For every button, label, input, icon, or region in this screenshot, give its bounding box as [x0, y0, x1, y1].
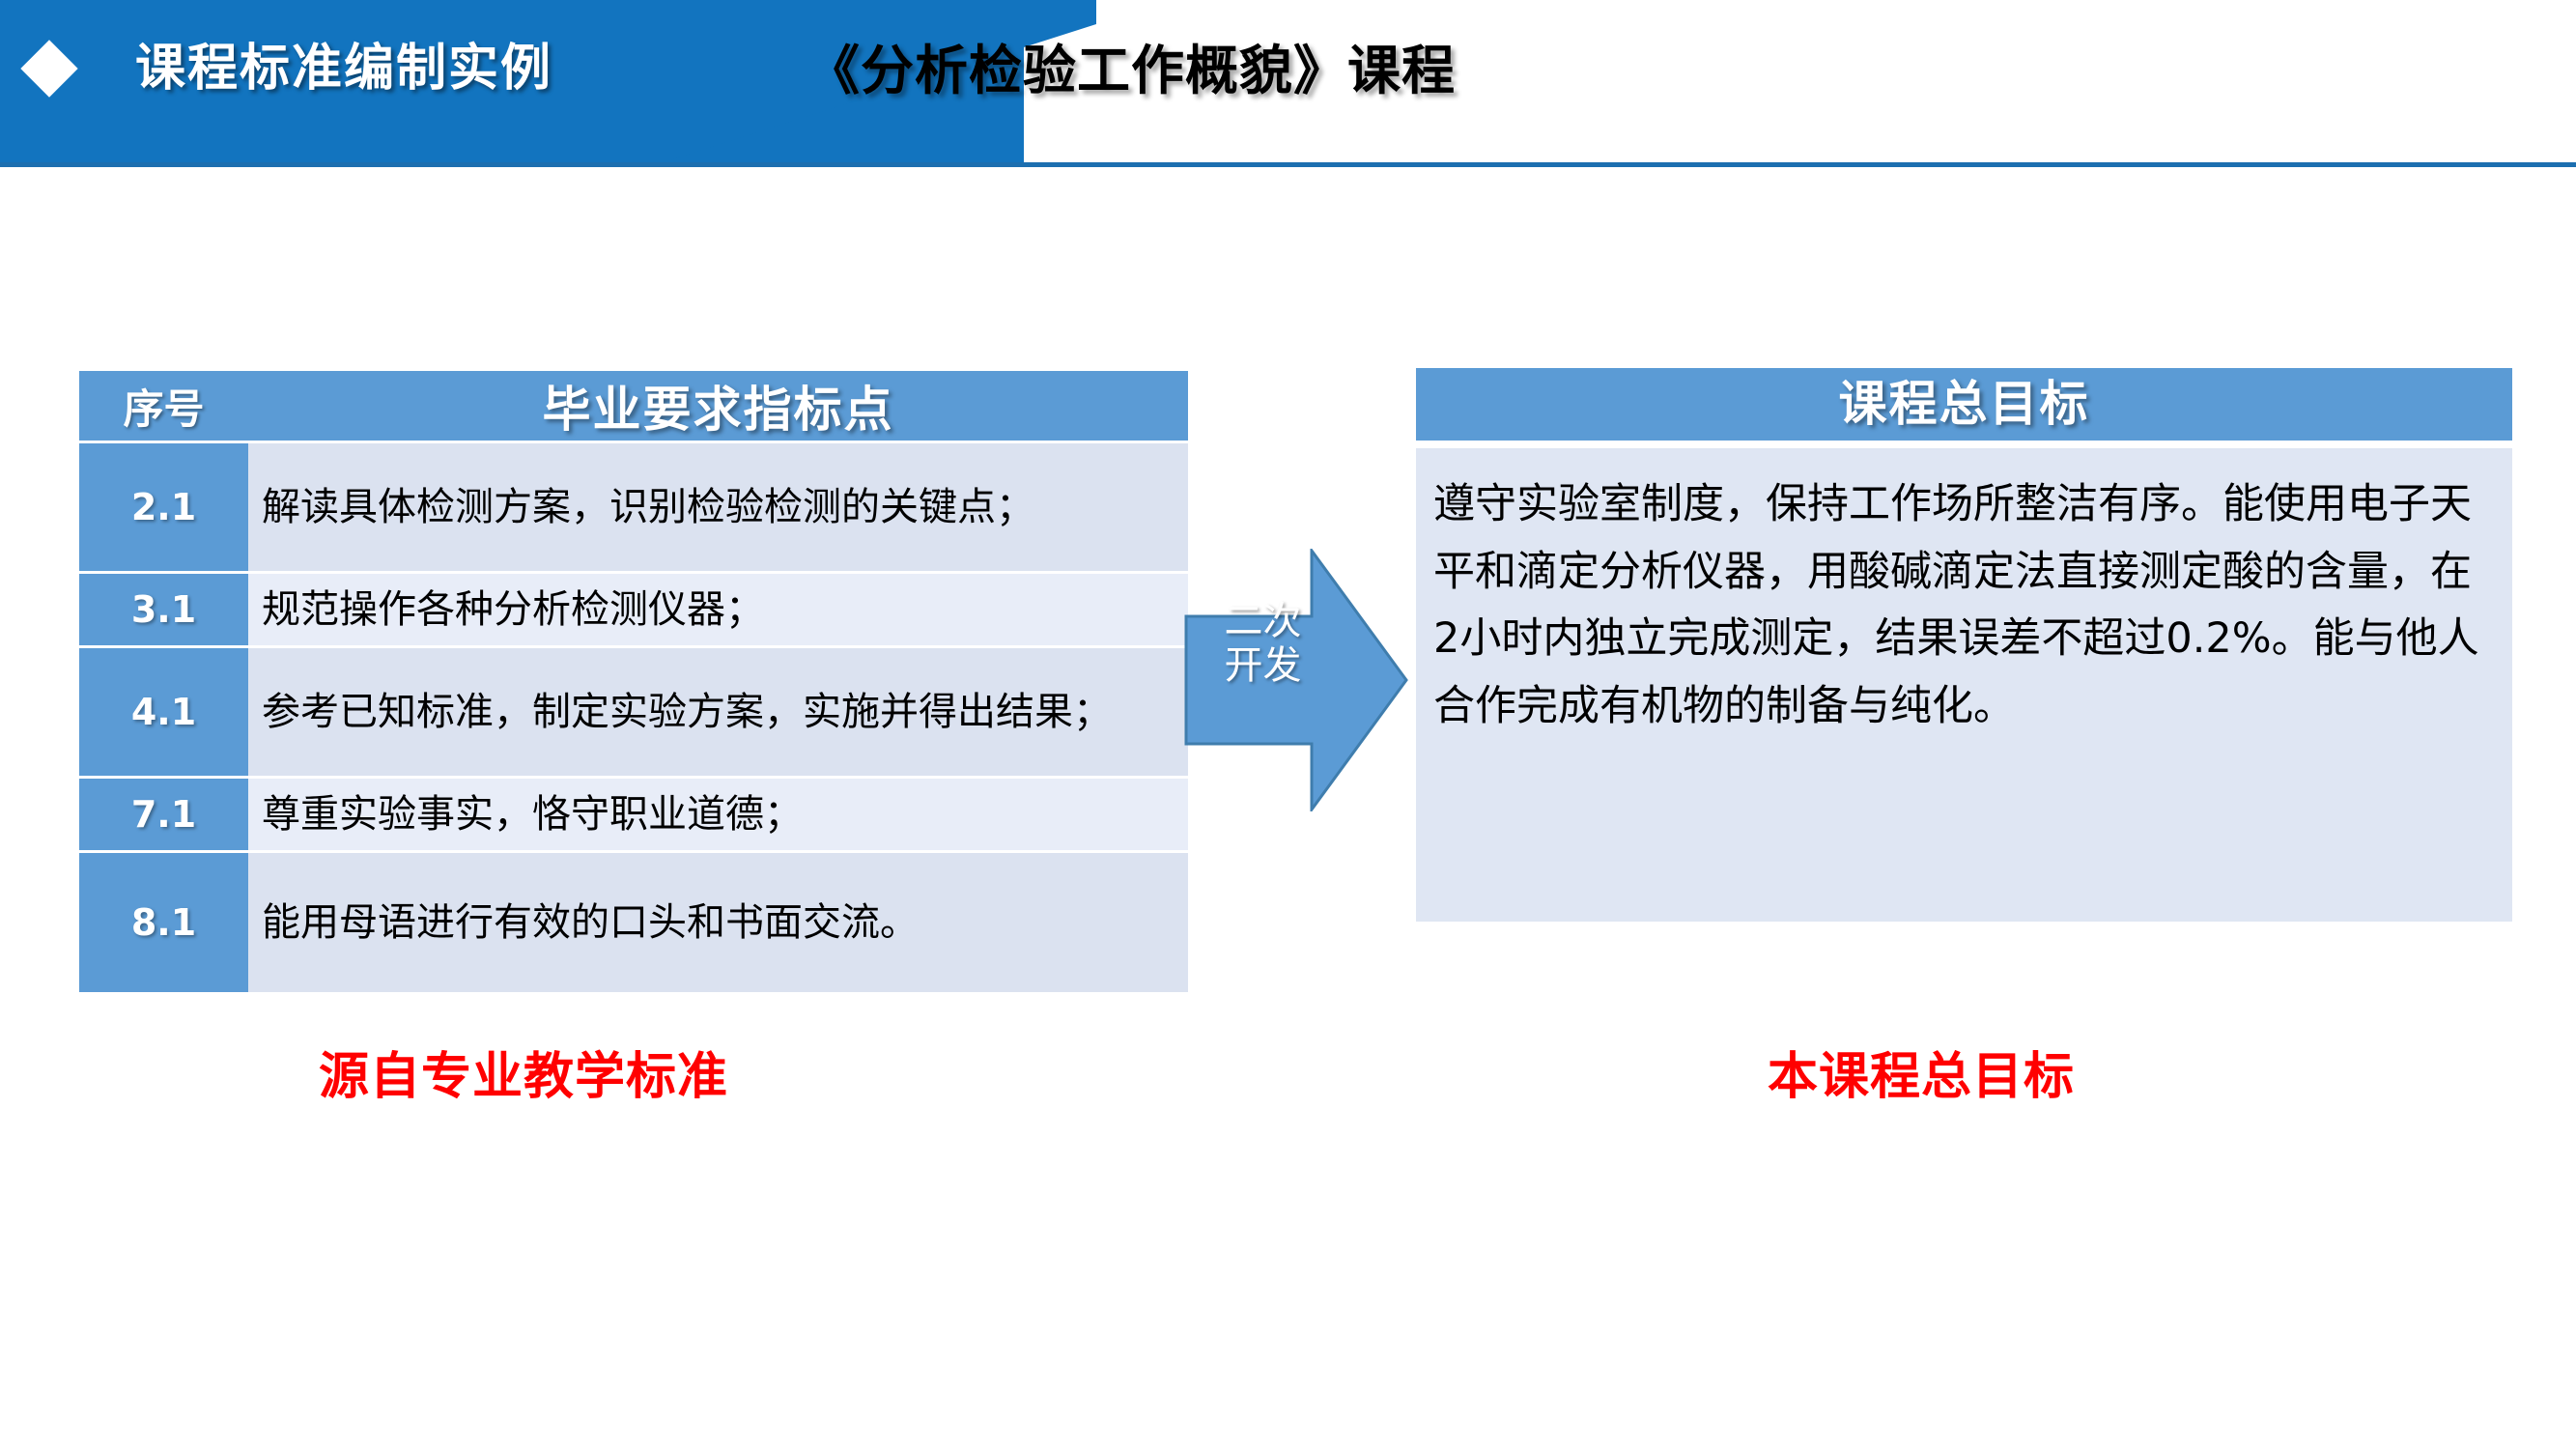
page-title-left: 课程标准编制实例	[135, 27, 552, 100]
row-no: 8.1	[79, 853, 248, 992]
graduation-requirements-table: 序号 毕业要求指标点 2.1 解读具体检测方案，识别检验检测的关键点； 3.1 …	[79, 368, 1188, 995]
table-row[interactable]: 4.1 参考已知标准，制定实验方案，实施并得出结果；	[79, 648, 1188, 776]
caption-course-objective: 本课程总目标	[1768, 1036, 2075, 1108]
table-header-row: 序号 毕业要求指标点	[79, 371, 1188, 441]
row-no: 4.1	[79, 648, 248, 776]
course-objective-body: 遵守实验室制度，保持工作场所整洁有序。能使用电子天平和滴定分析仪器，用酸碱滴定法…	[1416, 448, 2512, 922]
page-title-right: 《分析检验工作概貌》课程	[807, 27, 1456, 104]
row-desc: 尊重实验事实，恪守职业道德；	[248, 779, 1188, 850]
row-no: 2.1	[79, 443, 248, 571]
header-underline	[0, 162, 2576, 167]
column-header-no: 序号	[79, 371, 248, 441]
column-header-desc: 毕业要求指标点	[248, 371, 1188, 441]
row-no: 7.1	[79, 779, 248, 850]
table-row[interactable]: 2.1 解读具体检测方案，识别检验检测的关键点；	[79, 443, 1188, 571]
table-row[interactable]: 7.1 尊重实验事实，恪守职业道德；	[79, 779, 1188, 850]
row-desc: 参考已知标准，制定实验方案，实施并得出结果；	[248, 648, 1188, 776]
course-objective-panel: 课程总目标 遵守实验室制度，保持工作场所整洁有序。能使用电子天平和滴定分析仪器，…	[1416, 368, 2512, 922]
row-desc: 规范操作各种分析检测仪器；	[248, 574, 1188, 645]
course-objective-header: 课程总目标	[1416, 368, 2512, 441]
right-arrow-icon	[1184, 549, 1408, 811]
table-row[interactable]: 8.1 能用母语进行有效的口头和书面交流。	[79, 853, 1188, 992]
row-desc: 能用母语进行有效的口头和书面交流。	[248, 853, 1188, 992]
row-no: 3.1	[79, 574, 248, 645]
caption-source-standard: 源自专业教学标准	[319, 1036, 728, 1108]
row-desc: 解读具体检测方案，识别检验检测的关键点；	[248, 443, 1188, 571]
table-row[interactable]: 3.1 规范操作各种分析检测仪器；	[79, 574, 1188, 645]
